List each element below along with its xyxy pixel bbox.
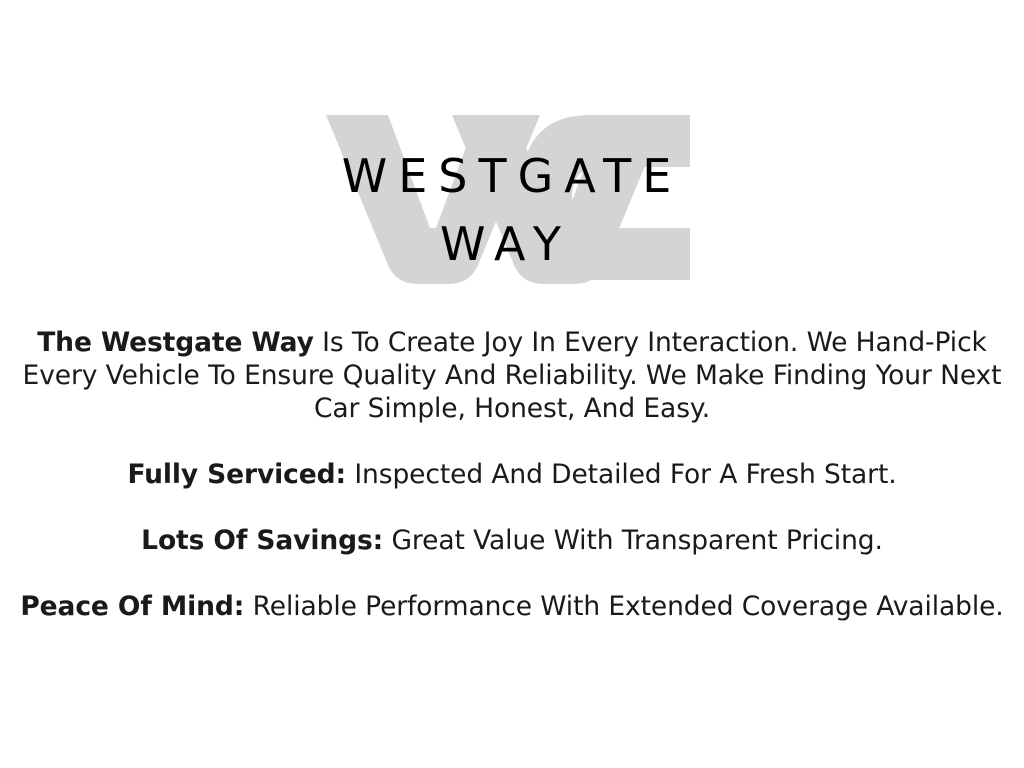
intro-paragraph: The Westgate Way Is To Create Joy In Eve… <box>12 326 1012 425</box>
wordmark-line-westgate: WESTGATE <box>342 149 683 203</box>
point-lead: Lots Of Savings: <box>141 525 383 556</box>
point-rest: Reliable Performance With Extended Cover… <box>244 591 1003 622</box>
paragraph-spacer <box>12 491 1012 524</box>
logo-block: WESTGATE WAY <box>0 100 1024 290</box>
point-lead: Fully Serviced: <box>127 459 346 490</box>
body-copy: The Westgate Way Is To Create Joy In Eve… <box>12 326 1012 623</box>
point-lead: Peace Of Mind: <box>20 591 244 622</box>
westgate-way-wordmark: WESTGATE WAY <box>0 100 1024 290</box>
page-root: WESTGATE WAY The Westgate Way Is To Crea… <box>0 0 1024 768</box>
paragraph-spacer <box>12 425 1012 458</box>
point-lots-of-savings: Lots Of Savings: Great Value With Transp… <box>12 524 1012 557</box>
wordmark-line-way: WAY <box>440 217 572 271</box>
point-rest: Inspected And Detailed For A Fresh Start… <box>346 459 897 490</box>
point-fully-serviced: Fully Serviced: Inspected And Detailed F… <box>12 458 1012 491</box>
point-peace-of-mind: Peace Of Mind: Reliable Performance With… <box>12 590 1012 623</box>
paragraph-spacer <box>12 557 1012 590</box>
intro-lead: The Westgate Way <box>37 327 314 358</box>
point-rest: Great Value With Transparent Pricing. <box>383 525 883 556</box>
